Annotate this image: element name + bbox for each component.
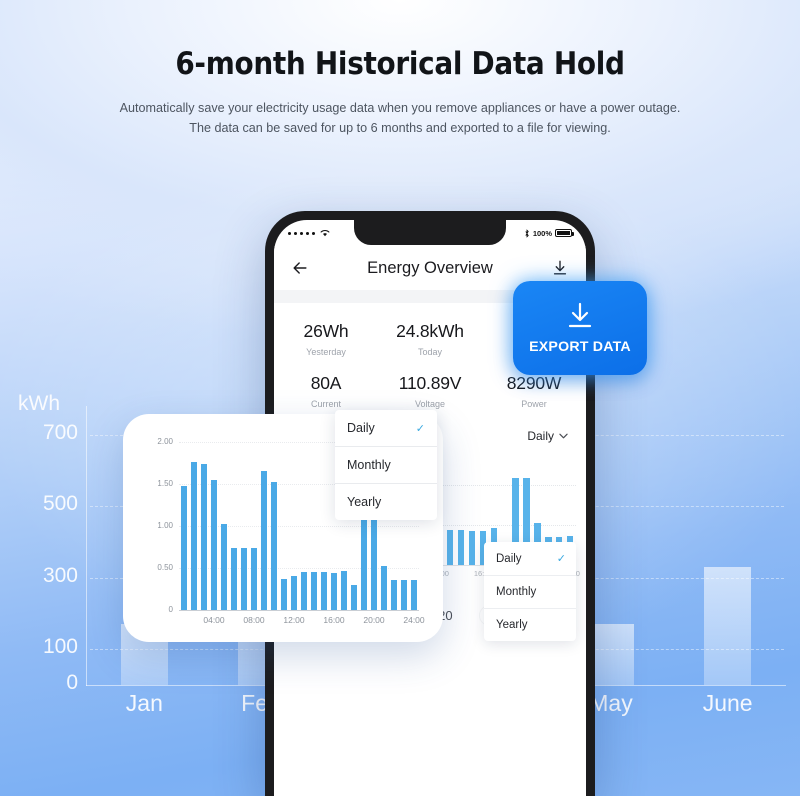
popup-chart-bar [391,580,397,610]
download-icon[interactable] [550,258,570,278]
stat-value: 24.8kWh [378,321,482,342]
battery-full-icon [555,229,572,237]
period-select-trigger[interactable]: Daily [527,429,568,443]
subtitle-line-1: Automatically save your electricity usag… [0,98,800,118]
popup-chart-y-tick: 0.50 [135,563,173,572]
chevron-down-icon [559,433,568,439]
phone-period-dropdown[interactable]: Daily ✓ Monthly Yearly [484,542,576,641]
signal-dots-icon [312,232,315,235]
page-subtitle: Automatically save your electricity usag… [0,98,800,139]
background-chart-y-tick: 0 [0,671,78,695]
popup-chart-y-tick: 1.00 [135,521,173,530]
download-icon [563,302,597,332]
popup-chart-bar [231,548,237,610]
background-chart-y-tick: 300 [0,564,78,588]
popup-chart-bar [251,548,257,610]
popup-chart-x-label: 24:00 [403,615,424,625]
popup-chart-x-label: 08:00 [243,615,264,625]
export-data-label: EXPORT DATA [529,339,631,355]
dropdown-item-daily[interactable]: Daily ✓ [484,542,576,576]
popup-chart-x-label: 04:00 [203,615,224,625]
phone-chart-bar [469,531,475,565]
background-chart-y-tick: 500 [0,492,78,516]
bluetooth-icon [524,229,530,238]
popup-chart-bar [271,482,277,610]
popup-chart-x-label: 20:00 [363,615,384,625]
dropdown-item-yearly[interactable]: Yearly [484,609,576,641]
arrow-left-icon[interactable] [290,258,310,278]
popup-chart-bar [211,480,217,610]
stat-label: Yesterday [274,347,378,357]
popup-chart-y-tick: 2.00 [135,437,173,446]
popup-chart-bar [361,520,367,611]
battery-percent-label: 100% [533,229,552,238]
popup-chart-bar [401,580,407,610]
phone-notch [354,220,506,245]
status-bar-right: 100% [524,229,572,238]
dropdown-item-label: Monthly [347,458,391,472]
popup-chart-bar [341,571,347,610]
dropdown-item-label: Daily [496,553,522,565]
background-chart-y-axis-title: kWh [18,392,60,416]
page-title: 6-month Historical Data Hold [0,46,800,82]
signal-dots-icon [300,232,303,235]
wifi-icon [320,229,330,237]
popup-chart-bar [371,520,377,611]
background-chart-y-tick: 700 [0,421,78,445]
popup-chart-bar [241,548,247,610]
dropdown-item-label: Yearly [496,619,528,631]
popup-chart-x-label: 16:00 [323,615,344,625]
popup-chart-bar [261,471,267,610]
dropdown-item-monthly[interactable]: Monthly [335,447,437,484]
popup-chart-bar [181,486,187,610]
dropdown-item-monthly[interactable]: Monthly [484,576,576,609]
popup-chart-bar [411,580,417,610]
phone-app-title: Energy Overview [310,259,550,278]
subtitle-line-2: The data can be saved for up to 6 months… [0,118,800,138]
dropdown-item-label: Daily [347,421,375,435]
popup-chart-y-tick: 0 [135,605,173,614]
stat-value: 110.89V [378,373,482,394]
popup-chart-bar [311,572,317,610]
popup-chart-bar [331,573,337,610]
stat-value: 8290W [482,373,586,394]
background-chart-x-label: Jan [86,690,203,717]
background-chart-y-tick: 100 [0,635,78,659]
popup-chart-bar [321,572,327,610]
check-icon: ✓ [416,422,425,435]
popup-chart-x-label: 12:00 [283,615,304,625]
phone-chart-bar [447,530,453,565]
popup-chart-bar [281,579,287,610]
dropdown-item-daily[interactable]: Daily ✓ [335,410,437,447]
popup-chart-y-tick: 1.50 [135,479,173,488]
popup-chart-bar [381,566,387,610]
popup-chart-bar [291,576,297,610]
signal-dots-icon [294,232,297,235]
dropdown-item-label: Yearly [347,495,381,509]
popup-period-dropdown[interactable]: Daily ✓ Monthly Yearly [335,410,437,520]
stat-label: Today [378,347,482,357]
check-icon: ✓ [557,552,566,565]
popup-chart-bar [201,464,207,610]
popup-chart-bar [351,585,357,610]
stat-value: 80A [274,373,378,394]
phone-chart-bar [458,530,464,565]
stat-card-today: 24.8kWh Today [378,315,482,367]
status-bar-left [288,229,330,237]
dropdown-item-yearly[interactable]: Yearly [335,484,437,520]
stat-label: Current [274,399,378,409]
dropdown-item-label: Monthly [496,586,536,598]
stat-label: Power [482,399,586,409]
page-header: 6-month Historical Data Hold Automatical… [0,0,800,139]
stat-value: 26Wh [274,321,378,342]
popup-chart-bar [301,572,307,610]
signal-dots-icon [288,232,291,235]
export-data-button[interactable]: EXPORT DATA [513,281,647,375]
popup-chart-bar [221,524,227,610]
stat-card-yesterday: 26Wh Yesterday [274,315,378,367]
period-select-value: Daily [527,429,554,443]
floating-chart-card: 2.001.501.000.500 04:0008:0012:0016:0020… [123,414,443,642]
background-chart-bar [704,567,751,685]
signal-dots-icon [306,232,309,235]
background-chart-x-label: June [669,690,786,717]
popup-chart-bar [191,462,197,610]
popup-chart-x-axis-line [179,610,419,611]
stat-label: Voltage [378,399,482,409]
